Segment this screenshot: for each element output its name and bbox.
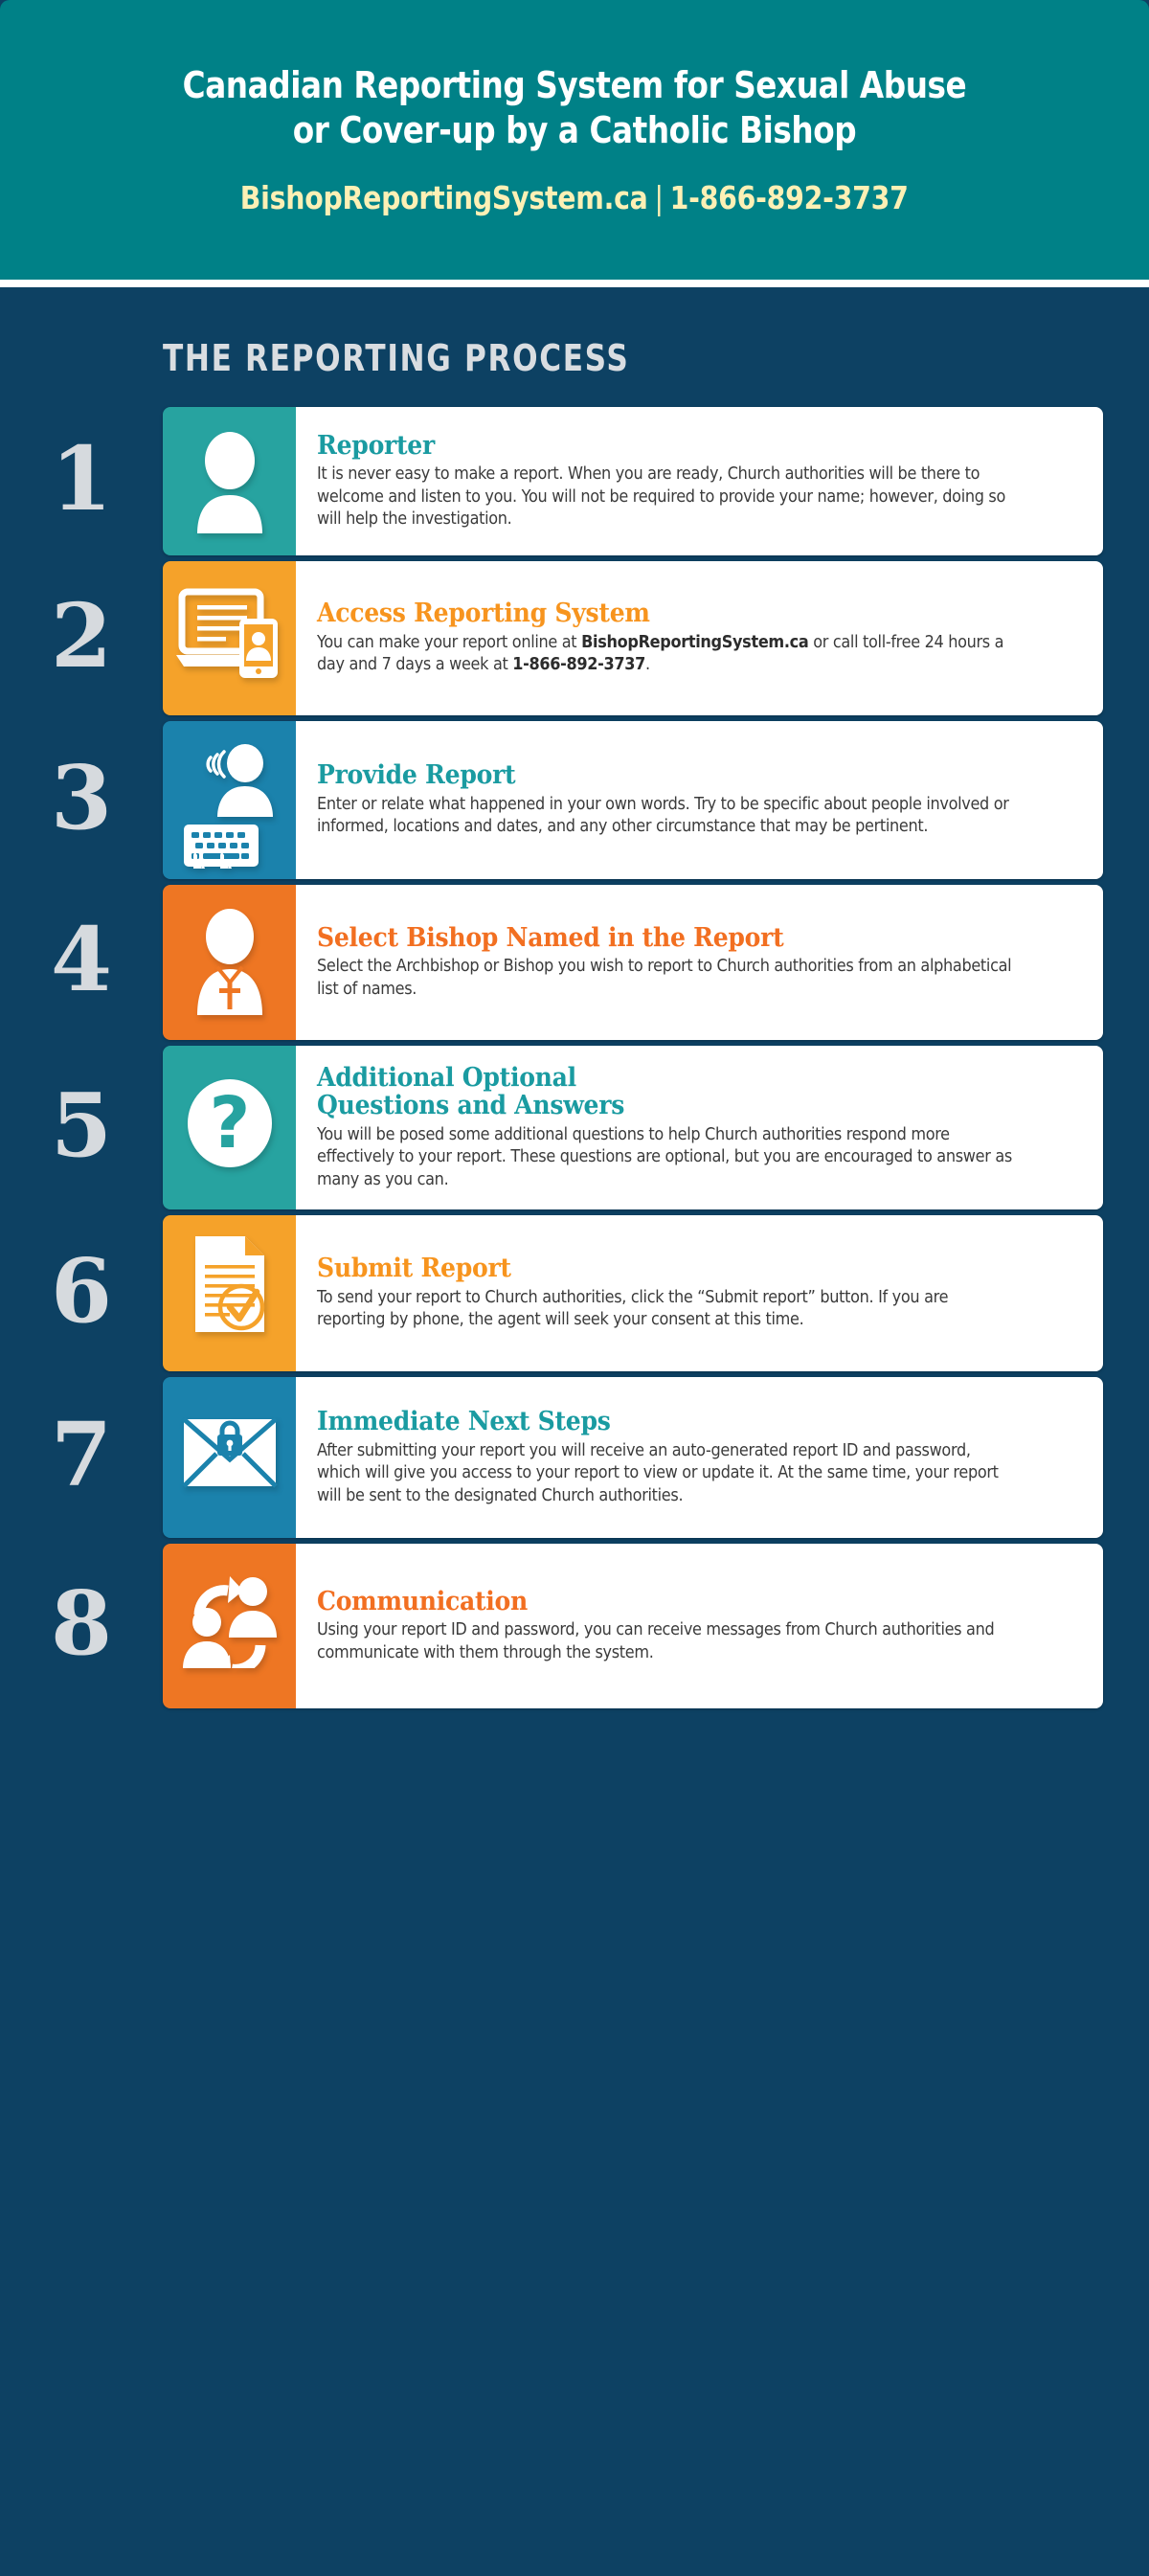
svg-text:?: ? xyxy=(209,1082,250,1164)
bishop-icon xyxy=(185,908,275,1015)
step-heading: Communication xyxy=(317,1588,1022,1616)
step-text-panel: Additional Optional Questions and Answer… xyxy=(296,1046,1103,1209)
step-heading: Provide Report xyxy=(317,761,1022,790)
step-heading: Reporter xyxy=(317,432,1022,461)
step-text-panel: Communication Using your report ID and p… xyxy=(296,1544,1103,1708)
envelope-lock-icon xyxy=(182,1417,278,1488)
step-4: 4 Select Bishop Named in the Report Sele… xyxy=(0,885,1103,1040)
banner-divider-rule xyxy=(0,280,1149,287)
step-text-panel: Immediate Next Steps After submitting yo… xyxy=(296,1377,1103,1538)
banner-title: Canadian Reporting System for Sexual Abu… xyxy=(183,63,967,152)
step-heading: Immediate Next Steps xyxy=(317,1408,1022,1436)
step-heading: Submit Report xyxy=(317,1254,1022,1283)
website-emphasis: BishopReportingSystem.ca xyxy=(581,633,808,652)
step-3: 3 xyxy=(0,721,1103,879)
step-icon-panel xyxy=(163,561,296,715)
step-7: 7 Immediate Next Steps xyxy=(0,1377,1103,1538)
step-number: 4 xyxy=(0,885,163,1040)
step-number: 7 xyxy=(0,1377,163,1538)
step-text-panel: Submit Report To send your report to Chu… xyxy=(296,1215,1103,1371)
step-text-panel: Access Reporting System You can make you… xyxy=(296,561,1103,715)
step-icon-panel xyxy=(163,1215,296,1371)
step-6: 6 xyxy=(0,1215,1103,1371)
question-mark-icon: ? xyxy=(185,1078,275,1168)
step-icon-panel xyxy=(163,885,296,1040)
step-body-text: After submitting your report you will re… xyxy=(317,1440,1014,1507)
step-icon-panel xyxy=(163,407,296,555)
website-link[interactable]: BishopReportingSystem.ca xyxy=(240,179,648,216)
step-body-text: Select the Archbishop or Bishop you wish… xyxy=(317,956,1014,1001)
step-body-text: Using your report ID and password, you c… xyxy=(317,1619,1014,1664)
two-people-exchange-icon xyxy=(180,1572,280,1668)
step-body-text: Enter or relate what happened in your ow… xyxy=(317,794,1014,839)
banner-contact-line: BishopReportingSystem.ca|1-866-892-3737 xyxy=(240,179,909,216)
phone-emphasis: 1-866-892-3737 xyxy=(512,655,645,674)
step-body-text: You will be posed some additional questi… xyxy=(317,1124,1014,1191)
step-text-panel: Reporter It is never easy to make a repo… xyxy=(296,407,1103,555)
person-icon xyxy=(186,430,274,533)
step-icon-panel xyxy=(163,1377,296,1538)
step-body-text: To send your report to Church authoritie… xyxy=(317,1287,1014,1332)
step-5: 5 ? Additional Optional Questions and An… xyxy=(0,1046,1103,1209)
step-1: 1 Reporter It is never easy to make a re… xyxy=(0,407,1103,555)
step-text-panel: Select Bishop Named in the Report Select… xyxy=(296,885,1103,1040)
page-title: THE REPORTING PROCESS xyxy=(163,337,629,379)
step-body-text: You can make your report online at Bisho… xyxy=(317,632,1014,677)
step-number: 3 xyxy=(0,721,163,879)
step-icon-panel: ? xyxy=(163,1046,296,1209)
step-number: 5 xyxy=(0,1046,163,1209)
phone-number[interactable]: 1-866-892-3737 xyxy=(670,179,909,216)
step-number: 8 xyxy=(0,1544,163,1708)
step-2: 2 xyxy=(0,561,1103,715)
step-number: 1 xyxy=(0,407,163,555)
contact-separator: | xyxy=(648,179,670,216)
step-body-text: It is never easy to make a report. When … xyxy=(317,463,1014,531)
document-check-icon xyxy=(190,1234,270,1334)
step-heading: Select Bishop Named in the Report xyxy=(317,924,1022,953)
step-heading: Access Reporting System xyxy=(317,599,1022,628)
laptop-phone-icon xyxy=(176,584,283,680)
step-number: 6 xyxy=(0,1215,163,1371)
step-icon-panel xyxy=(163,1544,296,1708)
step-number: 2 xyxy=(0,561,163,715)
step-8: 8 Communication xyxy=(0,1544,1103,1708)
header-banner: Canadian Reporting System for Sexual Abu… xyxy=(0,0,1149,280)
step-heading: Additional Optional Questions and Answer… xyxy=(317,1064,1022,1120)
reporting-process-steps: 1 Reporter It is never easy to make a re… xyxy=(0,407,1149,1714)
speaking-person-keyboard-icon xyxy=(174,744,285,869)
step-icon-panel xyxy=(163,721,296,879)
step-text-panel: Provide Report Enter or relate what happ… xyxy=(296,721,1103,879)
